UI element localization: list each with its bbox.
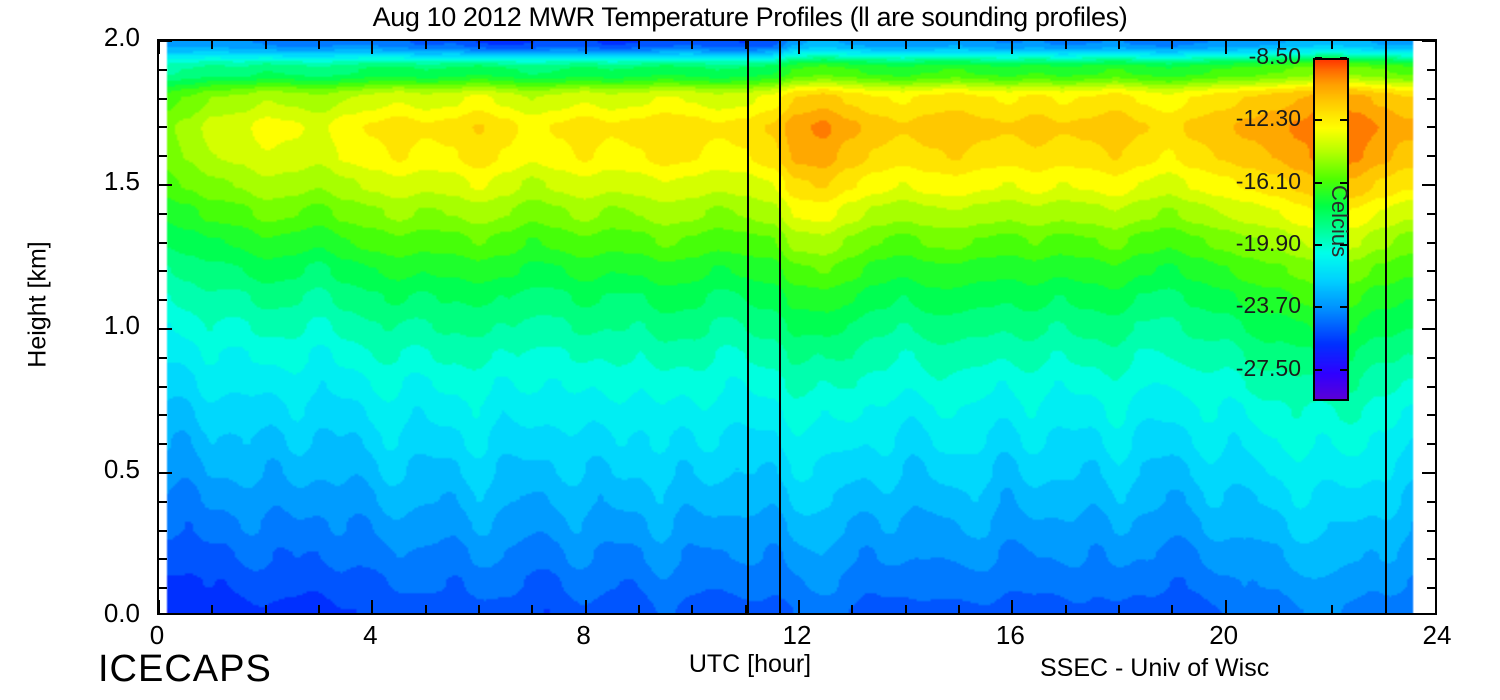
x-axis-tick [745,41,747,49]
x-axis-tick [585,600,587,613]
x-axis-tick [318,41,320,49]
y-axis-tick [1422,184,1435,186]
x-axis-tick-label: 24 [1397,620,1477,651]
y-axis-tick [1427,69,1435,71]
x-axis-tick [1225,600,1227,613]
y-axis-tick [159,98,167,100]
x-axis-tick-label: 16 [970,620,1050,651]
y-axis-tick [159,126,167,128]
y-axis-tick [1427,587,1435,589]
y-axis-tick [159,386,167,388]
y-axis-tick [1427,126,1435,128]
y-axis-tick [159,587,167,589]
y-axis-tick [159,357,167,359]
x-axis-tick-label: 12 [757,620,837,651]
y-axis-tick [159,472,172,474]
x-axis-tick [158,41,160,54]
y-axis-tick [159,414,167,416]
x-axis-tick [1331,41,1333,49]
colorbar-tick [1340,119,1347,121]
x-axis-tick [851,605,853,613]
colorbar-tick-label: -16.10 [1181,168,1301,195]
colorbar-tick [1315,244,1322,246]
y-axis-tick [1427,242,1435,244]
y-axis-tick [1427,414,1435,416]
y-axis-tick [1427,530,1435,532]
footer-project-label: ICECAPS [98,648,272,691]
page-title: Aug 10 2012 MWR Temperature Profiles (ll… [0,2,1500,33]
colorbar-tick [1315,306,1322,308]
x-axis-tick [1011,600,1013,613]
colorbar-tick [1340,369,1347,371]
colorbar-tick [1315,57,1322,59]
x-axis-tick [1331,605,1333,613]
colorbar-tick [1340,182,1347,184]
x-axis-tick [585,41,587,54]
y-axis-tick-label: 2.0 [20,22,140,53]
x-axis-tick [425,605,427,613]
y-axis-tick [1427,270,1435,272]
x-axis-tick [958,605,960,613]
x-axis-tick [531,605,533,613]
x-axis-tick [318,605,320,613]
y-axis-tick [1427,357,1435,359]
colorbar-tick [1315,119,1322,121]
colorbar-tick [1340,57,1347,59]
x-axis-tick [211,605,213,613]
colorbar-tick [1340,306,1347,308]
x-axis-tick [531,41,533,49]
y-axis-tick [1422,472,1435,474]
x-axis-tick [425,41,427,49]
sounding-profile-line-2 [779,41,781,613]
x-axis-tick [478,605,480,613]
y-axis-tick-label: 1.0 [20,310,140,341]
y-axis-tick [159,501,167,503]
x-axis-tick [905,605,907,613]
x-axis-tick [371,600,373,613]
colorbar-tick-label: -19.90 [1181,230,1301,257]
x-axis-tick [958,41,960,49]
y-axis-tick [159,530,167,532]
x-axis-tick [1171,41,1173,49]
x-axis-tick [798,600,800,613]
x-axis-tick [1385,605,1387,613]
colorbar-tick-label: -27.50 [1181,355,1301,382]
x-axis-tick [265,605,267,613]
x-axis-tick [265,41,267,49]
y-axis-tick [1427,558,1435,560]
y-axis-tick [1427,501,1435,503]
x-axis-tick [905,41,907,49]
y-axis-tick [159,69,167,71]
sounding-profile-line-3 [1385,41,1387,613]
x-axis-tick [638,41,640,49]
x-axis-tick [371,41,373,54]
y-axis-tick [1427,213,1435,215]
x-axis-tick [1278,605,1280,613]
x-axis-tick [1065,605,1067,613]
y-axis-tick [159,328,172,330]
mwr-temperature-plot: Aug 10 2012 MWR Temperature Profiles (ll… [0,0,1500,700]
sounding-profile-line-1 [747,41,749,613]
y-axis-tick [159,213,167,215]
x-axis-tick [798,41,800,54]
colorbar-tick-label: -12.30 [1181,105,1301,132]
y-axis-title: Height [km] [24,185,53,425]
x-axis-tick [211,41,213,49]
y-axis-tick [159,270,167,272]
y-axis-tick [1427,155,1435,157]
x-axis-tick [1011,41,1013,54]
colorbar-tick-label: -23.70 [1181,292,1301,319]
x-axis-tick [478,41,480,49]
y-axis-tick-label: 1.5 [20,166,140,197]
x-axis-tick [1065,41,1067,49]
x-axis-tick [1118,605,1120,613]
y-axis-tick [1422,40,1435,42]
y-axis-tick [1427,443,1435,445]
colorbar-tick-label: -8.50 [1181,43,1301,70]
y-axis-tick [1422,328,1435,330]
y-axis-tick-label: 0.0 [20,598,140,629]
colorbar-tick [1315,369,1322,371]
x-axis-tick [158,600,160,613]
x-axis-tick [1385,41,1387,49]
x-axis-tick [691,41,693,49]
y-axis-tick [1427,386,1435,388]
y-axis-tick [159,558,167,560]
colorbar-tick [1315,182,1322,184]
y-axis-tick [159,299,167,301]
x-axis-tick-label: 20 [1184,620,1264,651]
colorbar-title: Celcius [1326,185,1352,335]
y-axis-tick [159,443,167,445]
footer-institution-label: SSEC - Univ of Wisc [1040,654,1269,683]
x-axis-tick [745,605,747,613]
y-axis-tick [1427,299,1435,301]
colorbar-tick [1340,244,1347,246]
y-axis-tick [159,40,172,42]
y-axis-tick [159,184,172,186]
y-axis-tick-label: 0.5 [20,454,140,485]
x-axis-tick [638,605,640,613]
y-axis-tick [1427,98,1435,100]
x-axis-tick [691,605,693,613]
x-axis-tick [1171,605,1173,613]
x-axis-tick-label: 8 [544,620,624,651]
x-axis-tick [851,41,853,49]
y-axis-tick [159,155,167,157]
y-axis-tick [159,242,167,244]
x-axis-tick-label: 4 [330,620,410,651]
x-axis-tick [1118,41,1120,49]
